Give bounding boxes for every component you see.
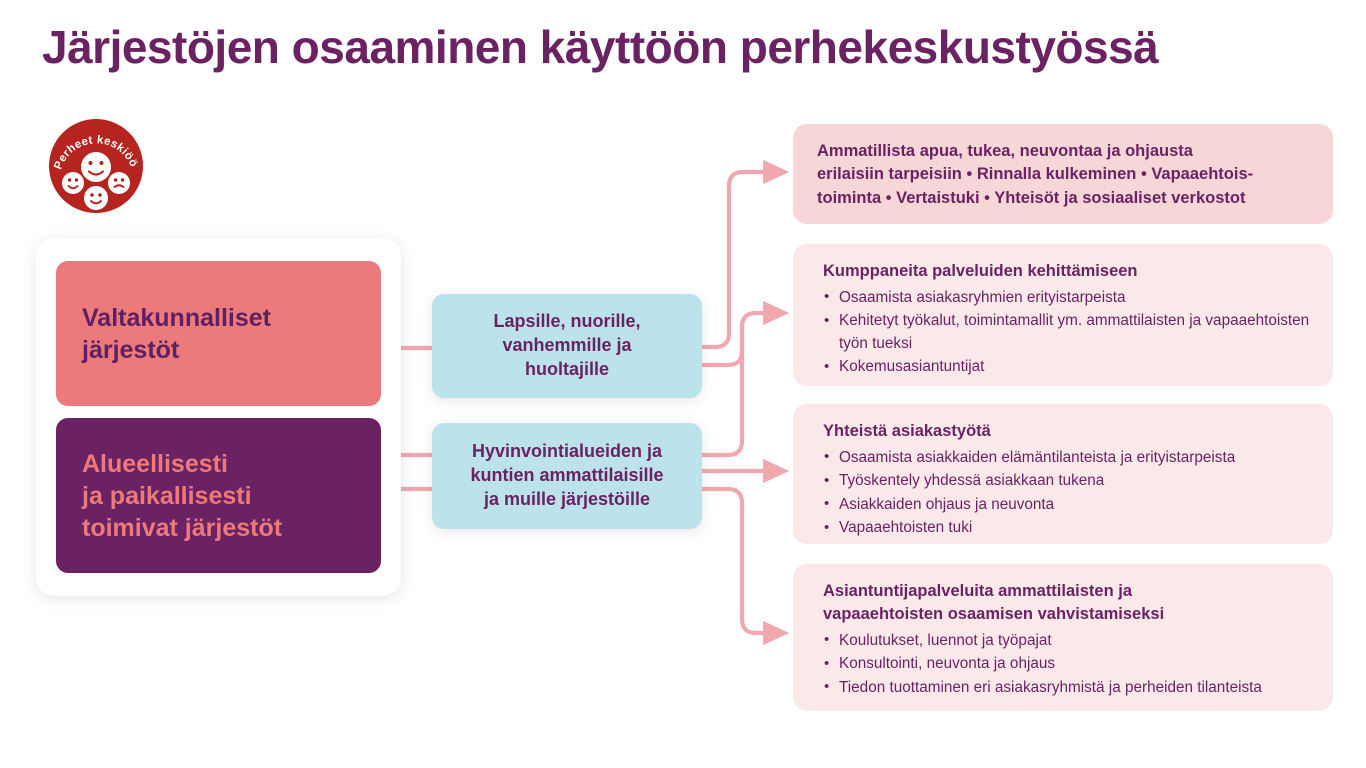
org-box-regional[interactable]: Alueellisesti ja paikallisesti toimivat … xyxy=(56,418,381,573)
list-item: Osaamista asiakkaiden elämäntilanteista … xyxy=(823,447,1311,469)
organisation-card: Valtakunnalliset järjestöt Alueellisesti… xyxy=(36,238,401,596)
perheet-keskioon-logo: Perheet keskiöön xyxy=(48,118,144,214)
target-group-families-label: Lapsille, nuorille, vanhemmille ja huolt… xyxy=(493,310,640,382)
org-box-national[interactable]: Valtakunnalliset järjestöt xyxy=(56,261,381,406)
panel-lead-text: Ammatillista apua, tukea, neuvontaa ja o… xyxy=(817,140,1311,210)
list-item: Osaamista asiakasryhmien erityistarpeist… xyxy=(823,287,1311,309)
panel-list: Osaamista asiakkaiden elämäntilanteista … xyxy=(823,447,1311,540)
panel-list: Koulutukset, luennot ja työpajat Konsult… xyxy=(823,630,1311,699)
list-item: Kehitetyt työkalut, toimintamallit ym. a… xyxy=(823,310,1311,355)
list-item: Konsultointi, neuvonta ja ohjaus xyxy=(823,653,1311,675)
target-group-families[interactable]: Lapsille, nuorille, vanhemmille ja huolt… xyxy=(432,294,702,398)
page-title: Järjestöjen osaaminen käyttöön perhekesk… xyxy=(42,22,1342,73)
target-group-professionals[interactable]: Hyvinvointialueiden ja kuntien ammattila… xyxy=(432,423,702,529)
panel-expert-services[interactable]: Asiantuntijapalveluita ammattilaisten ja… xyxy=(793,564,1333,711)
infographic-canvas: Järjestöjen osaaminen käyttöön perhekesk… xyxy=(0,0,1366,768)
org-box-national-label: Valtakunnalliset järjestöt xyxy=(82,302,271,366)
list-item: Koulutukset, luennot ja työpajat xyxy=(823,630,1311,652)
panel-joint-client-work[interactable]: Yhteistä asiakastyötä Osaamista asiakkai… xyxy=(793,404,1333,544)
list-item: Tiedon tuottaminen eri asiakasryhmistä j… xyxy=(823,677,1311,699)
panel-heading: Yhteistä asiakastyötä xyxy=(823,420,1311,443)
panel-services-to-families[interactable]: Ammatillista apua, tukea, neuvontaa ja o… xyxy=(793,124,1333,224)
org-box-regional-label: Alueellisesti ja paikallisesti toimivat … xyxy=(82,448,282,544)
panel-partners-in-development[interactable]: Kumppaneita palveluiden kehittämiseen Os… xyxy=(793,244,1333,386)
list-item: Vapaaehtoisten tuki xyxy=(823,517,1311,539)
panel-list: Osaamista asiakasryhmien erityistarpeist… xyxy=(823,287,1311,379)
panel-heading: Kumppaneita palveluiden kehittämiseen xyxy=(823,260,1311,283)
panel-heading: Asiantuntijapalveluita ammattilaisten ja… xyxy=(823,580,1311,626)
list-item: Kokemusasiantuntijat xyxy=(823,356,1311,378)
target-group-professionals-label: Hyvinvointialueiden ja kuntien ammattila… xyxy=(470,440,663,512)
list-item: Työskentely yhdessä asiakkaan tukena xyxy=(823,470,1311,492)
list-item: Asiakkaiden ohjaus ja neuvonta xyxy=(823,494,1311,516)
